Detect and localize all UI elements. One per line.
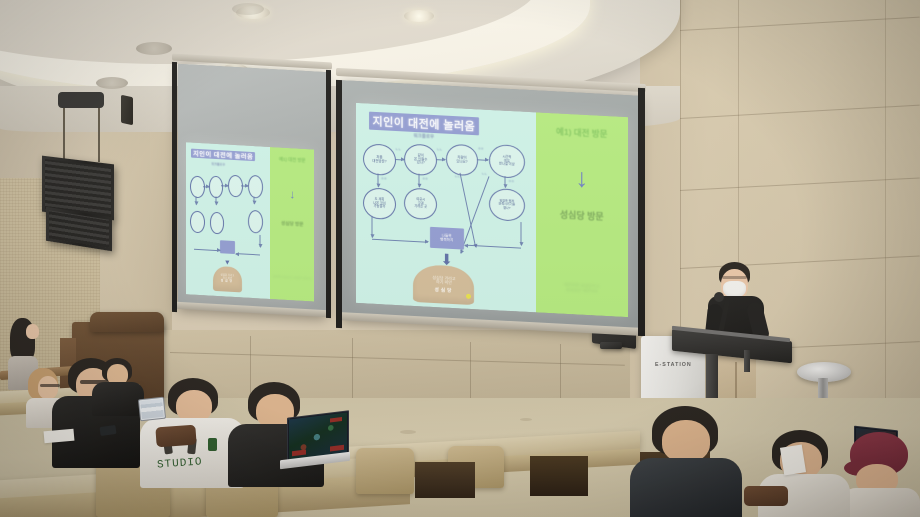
bag xyxy=(744,486,788,506)
flow-arrow xyxy=(504,176,505,187)
flow-node: 시간적 여유 반나절 이상 xyxy=(489,144,525,179)
panel-result: 성심당 방문 xyxy=(560,208,604,223)
screen-edge-left xyxy=(172,62,177,312)
flow-node: 처음 대전방문? xyxy=(363,143,396,176)
ceiling-vent-icon xyxy=(232,3,264,15)
ceiling-vent-icon xyxy=(96,77,128,89)
flow-node xyxy=(190,176,205,199)
panel-result: 성심당 방문 xyxy=(281,221,303,228)
flow-node xyxy=(210,212,225,235)
slide-title: 지인이 대전에 놀러옴 xyxy=(369,112,480,136)
screen-edge-main-right xyxy=(638,88,645,336)
ceiling-vent-icon xyxy=(136,42,172,55)
flow-node: 도 계획 나온 것이 가능할까 xyxy=(363,187,396,220)
lecture-chair xyxy=(356,448,414,494)
slide-flowchart-panel: 지인이 대전에 놀러옴 워크플로우 처음 대전방문? 같이 온 인원수 있나? … xyxy=(356,103,536,312)
edge-label: ㄴㄴ xyxy=(395,147,401,151)
speaker-rod xyxy=(63,104,65,164)
flow-arrow xyxy=(377,174,378,187)
under-desk-shadow xyxy=(415,462,475,498)
flow-node xyxy=(209,175,224,198)
wood-partition xyxy=(90,312,164,332)
edge-label: ㄴㄴ xyxy=(437,147,443,151)
panel-heading: 예1) 대전 방문 xyxy=(279,157,306,164)
flow-node: 차량이 있나요? xyxy=(446,144,479,177)
flow-node xyxy=(248,210,264,234)
tablet-device[interactable] xyxy=(138,397,166,422)
audience-member xyxy=(92,358,144,416)
edge-label: ㅇㅇ xyxy=(422,176,428,180)
edge-label: ㅇㅇ xyxy=(509,179,515,183)
slide-example-panel: 예1) 대전 방문 ↓ 성심당 방문 대전하면 성심당이고 성심당은 대전이다 xyxy=(536,112,628,317)
edge-label: ㄴㄴ xyxy=(482,172,488,176)
bread-line2: 하기 미안 xyxy=(436,280,452,285)
under-desk-shadow xyxy=(530,456,588,496)
bag xyxy=(155,425,196,448)
flow-node xyxy=(228,175,243,198)
flow-node: 일정을 짧게 만족시키기를 했나? xyxy=(489,188,525,222)
speaker-mount xyxy=(58,92,104,108)
lecture-hall-photo: 지인이 대전에 놀러옴 워크플로우 xyxy=(0,0,920,517)
screen-edge-right xyxy=(326,70,331,318)
result-bread: 성심당 가라고 하기 미안 성심당 xyxy=(413,264,474,305)
flow-node: 여유시 구경 가려는 곳 xyxy=(404,187,437,220)
edge-label: ㅇㅇ xyxy=(478,146,484,150)
flow-arrow xyxy=(436,159,445,160)
slide-title: 지인이 대전에 놀러옴 xyxy=(191,149,255,162)
flow-arrow xyxy=(372,216,373,237)
slide-subtitle: 워크플로우 xyxy=(211,162,225,167)
decision-box: 나들목 행복하지 xyxy=(430,227,464,250)
flow-arrow xyxy=(477,159,488,161)
panel-heading: 예1) 대전 방문 xyxy=(556,125,607,140)
flow-arrow xyxy=(372,239,428,243)
flow-arrow xyxy=(395,159,404,160)
result-bread: 성심당 가라고 하기 미안 성심당 xyxy=(213,265,242,292)
flow-node xyxy=(190,211,205,234)
presenter-glasses xyxy=(722,276,747,279)
flow-node: 같이 온 인원수 있나? xyxy=(404,143,437,176)
audience-member xyxy=(630,406,742,517)
bread-dot-icon xyxy=(466,294,471,299)
panel-arrow-icon: ↓ xyxy=(289,188,295,200)
flow-arrow xyxy=(521,222,522,245)
panel-footnote: 대전하면 성심당이고 성심당은 대전이다 xyxy=(273,275,312,280)
microphone-head-icon xyxy=(714,292,724,302)
projection-screen-primary: 지인이 대전에 놀러옴 워크플로우 처음 대전방문? 같이 온 인원수 있나? … xyxy=(342,80,640,334)
edge-label: ㄴㄴ xyxy=(455,174,461,178)
screen-edge-main-left xyxy=(336,80,342,328)
bread-brand: 성심당 xyxy=(435,287,454,293)
decision-box xyxy=(220,240,235,255)
slide-duplicate: 지인이 대전에 놀러옴 워크플로우 xyxy=(186,142,314,301)
audience-member xyxy=(840,432,920,517)
speaker-rod xyxy=(98,104,100,162)
laptop-screen[interactable] xyxy=(288,418,290,420)
panel-footnote: 대전하면 성심당이고 성심당은 대전이다 xyxy=(564,282,600,294)
lectern-brand: E-STATION xyxy=(655,362,692,368)
flow-arrow xyxy=(418,174,419,187)
downlight-icon xyxy=(404,10,434,22)
shirt-graphic-icon xyxy=(208,438,217,451)
panel-arrow-icon: ↓ xyxy=(575,164,588,191)
flow-node xyxy=(248,175,264,199)
ceiling-speaker-small xyxy=(121,95,133,126)
slide-primary: 지인이 대전에 놀러옴 워크플로우 처음 대전방문? 같이 온 인원수 있나? … xyxy=(356,103,628,317)
slide-subtitle: 워크플로우 xyxy=(413,133,434,140)
lectern-column xyxy=(744,350,750,372)
projector-lens xyxy=(600,342,622,349)
projection-screen-secondary: 지인이 대전에 놀러옴 워크플로우 xyxy=(178,64,326,316)
bread-brand: 성심당 xyxy=(221,280,234,284)
handout-paper xyxy=(780,444,806,475)
edge-label: ㅇㅇ xyxy=(381,176,387,180)
